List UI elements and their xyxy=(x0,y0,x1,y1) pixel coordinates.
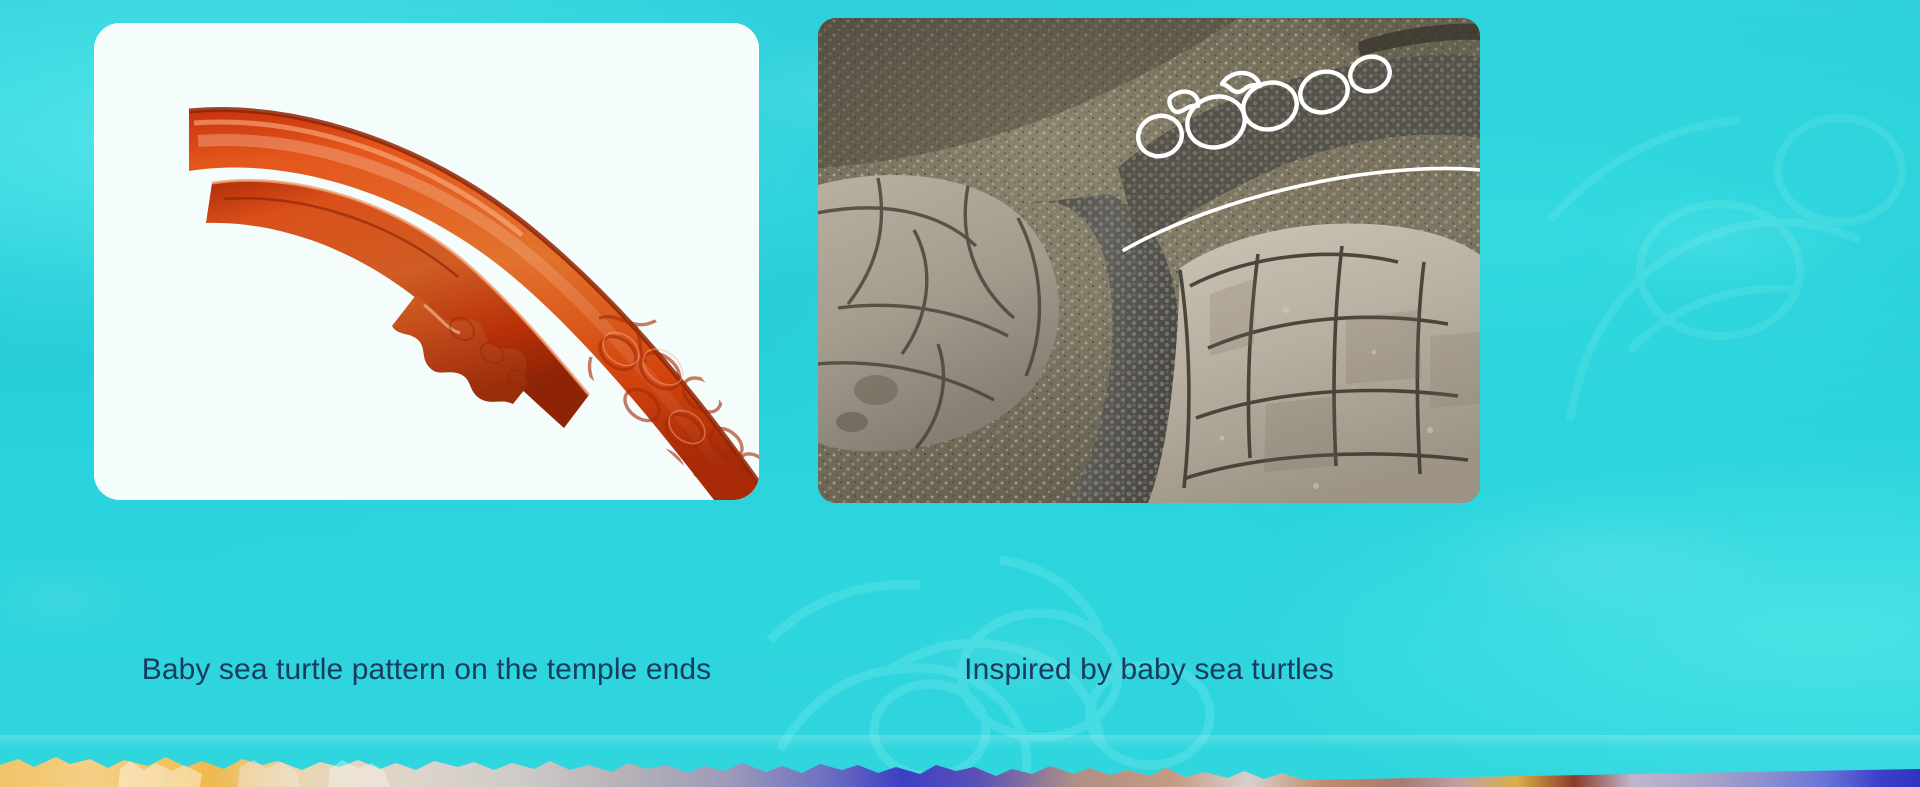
eyeglass-temple-ends-image xyxy=(94,23,759,500)
baby-sea-turtle-photo-card[interactable] xyxy=(818,18,1480,503)
turtle-inspiration-panel: Baby sea turtle pattern on the temple en… xyxy=(0,0,1920,787)
panel-cards-row xyxy=(0,0,1920,700)
caption-baby-sea-turtle: Inspired by baby sea turtles xyxy=(818,655,1480,685)
turtle-carapace xyxy=(1148,224,1480,503)
caption-temple-ends: Baby sea turtle pattern on the temple en… xyxy=(94,655,759,685)
baby-sea-turtle-image xyxy=(818,18,1480,503)
beach-strip-graphic xyxy=(0,735,1920,787)
beach-bottom-strip xyxy=(0,735,1920,787)
eyeglass-temple-ends-card[interactable] xyxy=(94,23,759,500)
